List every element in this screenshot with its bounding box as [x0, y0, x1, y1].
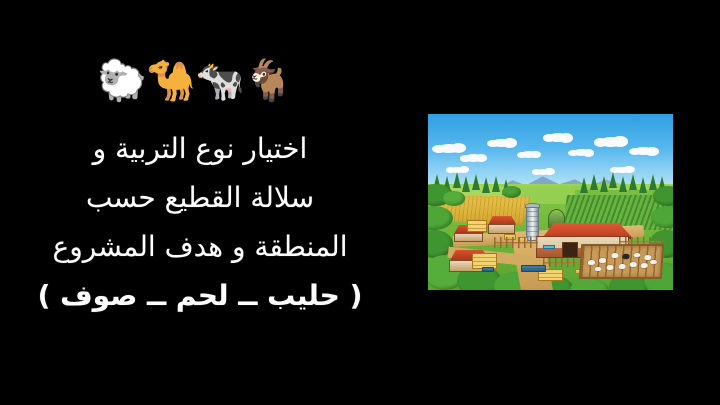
tree-bush — [653, 186, 673, 205]
water-trough — [521, 265, 546, 271]
cloud-icon — [450, 167, 465, 173]
cloud-icon — [634, 147, 654, 155]
headline-line-1: اختيار نوع التربية و — [2, 124, 398, 173]
wooden-fence — [543, 258, 577, 267]
shed-wall — [454, 233, 483, 243]
camel-emoji: 🐪 — [146, 58, 195, 104]
wooden-fence — [494, 237, 538, 248]
cloud-icon — [438, 144, 460, 153]
headline-line-4-products: ( حليب ــ لحم ــ صوف ) — [2, 271, 398, 320]
cloud-icon — [548, 133, 568, 142]
slide-canvas: 🐑🐪🐄🐐 اختيار نوع التربية و سلالة القطيع ح… — [0, 0, 720, 405]
cattle-figure — [622, 254, 629, 259]
livestock-emoji-row: 🐑🐪🐄🐐 — [0, 58, 390, 104]
sheep-figure — [644, 256, 651, 261]
shed-wall — [488, 224, 515, 234]
water-trough — [482, 267, 494, 272]
content-column: 🐑🐪🐄🐐 اختيار نوع التربية و سلالة القطيع ح… — [0, 0, 400, 405]
goat-emoji: 🐐 — [244, 58, 293, 104]
cow-emoji: 🐄 — [195, 58, 244, 104]
sheep-figure — [611, 254, 618, 259]
cloud-icon — [600, 137, 622, 147]
sheep-figure — [619, 264, 626, 269]
tree-bush — [443, 191, 465, 205]
cloud-icon — [573, 149, 590, 156]
headline-line-2: سلالة القطيع حسب — [2, 173, 398, 222]
barn-door — [562, 242, 578, 258]
cloud-icon — [614, 167, 630, 173]
sheep-emoji: 🐑 — [97, 58, 146, 104]
farm-scene — [428, 114, 673, 290]
cloud-icon — [465, 154, 482, 161]
hay-stack — [467, 220, 487, 232]
barn-window — [543, 245, 555, 249]
headline-line-3: المنطقة و هدف المشروع — [2, 222, 398, 271]
small-shed — [487, 216, 516, 234]
cloud-icon — [521, 151, 537, 158]
sheep-figure — [630, 262, 637, 267]
cloud-icon — [492, 139, 512, 148]
cloud-icon — [536, 169, 551, 175]
livestock-pen — [579, 244, 665, 279]
farm-illustration — [428, 114, 673, 290]
sheep-figure — [594, 267, 601, 272]
headline-text-block: اختيار نوع التربية و سلالة القطيع حسب ال… — [2, 124, 398, 320]
